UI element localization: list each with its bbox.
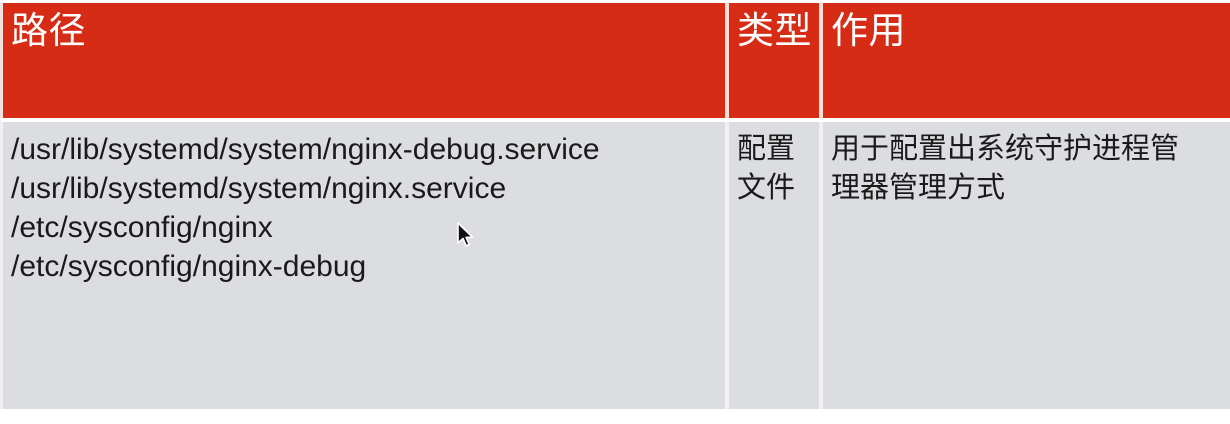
column-header-type-label: 类型 (737, 9, 819, 53)
spec-table: 路径 类型 作用 /usr/lib/systemd/system/nginx-d… (0, 3, 1230, 409)
path-line: /usr/lib/systemd/system/nginx.service (11, 169, 725, 208)
slide-canvas: 路径 类型 作用 /usr/lib/systemd/system/nginx-d… (0, 0, 1230, 424)
table-header-row: 路径 类型 作用 (0, 3, 1230, 118)
column-header-use: 作用 (819, 3, 1229, 118)
use-line: 用于配置出系统守护进程管 (831, 130, 1229, 169)
type-line: 配置 (737, 130, 819, 169)
column-header-path-label: 路径 (11, 9, 725, 53)
column-header-path: 路径 (3, 3, 725, 118)
use-line: 理器管理方式 (831, 169, 1229, 208)
cell-type: 配置 文件 (725, 122, 819, 409)
type-line: 文件 (737, 169, 819, 208)
column-header-use-label: 作用 (831, 9, 1229, 53)
table-row: /usr/lib/systemd/system/nginx-debug.serv… (0, 118, 1230, 409)
path-line: /etc/sysconfig/nginx (11, 208, 725, 247)
column-header-type: 类型 (725, 3, 819, 118)
cell-path: /usr/lib/systemd/system/nginx-debug.serv… (3, 122, 725, 409)
cell-use: 用于配置出系统守护进程管 理器管理方式 (819, 122, 1229, 409)
path-line: /etc/sysconfig/nginx-debug (11, 247, 725, 286)
path-line: /usr/lib/systemd/system/nginx-debug.serv… (11, 130, 725, 169)
